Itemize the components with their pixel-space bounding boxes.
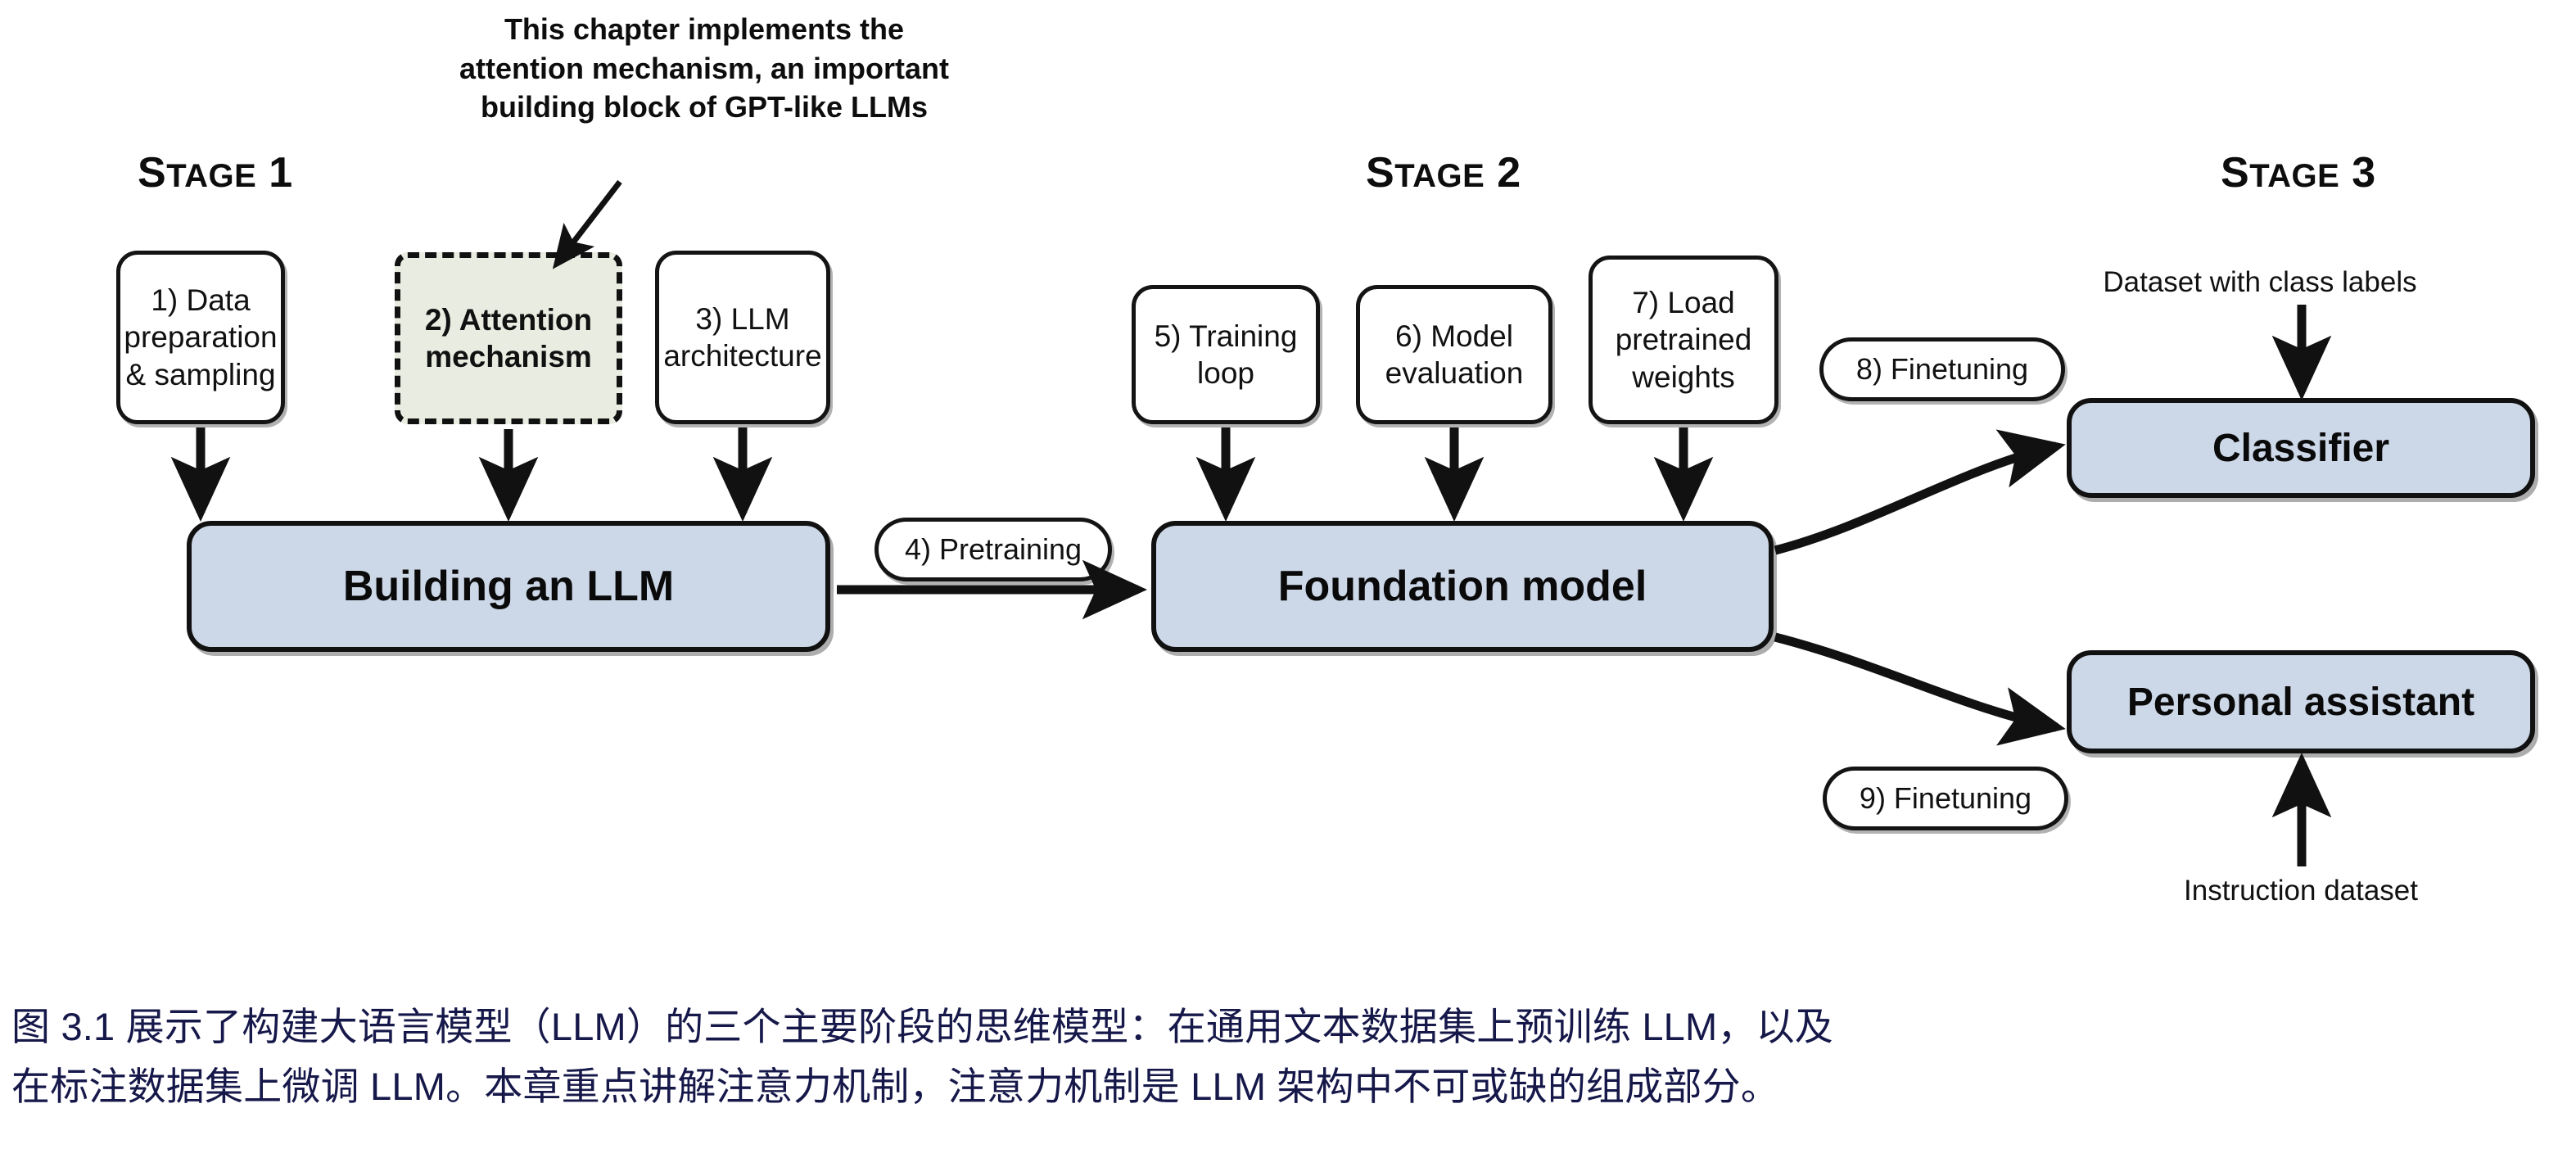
stage-2-number: 2	[1485, 149, 1521, 197]
stage-2-prefix-big: S	[1366, 149, 1394, 197]
stage-2-prefix-small: TAGE	[1394, 158, 1485, 194]
stage-3-header: STAGE 3	[2221, 152, 2376, 194]
outcome-box-building-an-llm[interactable]: Building an LLM	[187, 521, 830, 652]
step-box-llm-architecture[interactable]: 3) LLM architecture	[655, 251, 830, 424]
step-box-training-loop[interactable]: 5) Training loop	[1132, 285, 1320, 424]
outcome-box-personal-assistant[interactable]: Personal assistant	[2067, 650, 2535, 753]
figure-caption: 图 3.1 展示了构建大语言模型（LLM）的三个主要阶段的思维模型：在通用文本数…	[11, 997, 2566, 1117]
outcome-box-classifier[interactable]: Classifier	[2067, 398, 2535, 498]
step-box-attention-mechanism[interactable]: 2) Attention mechanism	[395, 252, 622, 424]
pill-finetuning-classifier[interactable]: 8) Finetuning	[1819, 337, 2065, 401]
label-instruction-dataset: Instruction dataset	[2072, 875, 2530, 907]
outcome-box-foundation-model[interactable]: Foundation model	[1151, 521, 1774, 652]
step-box-model-evaluation[interactable]: 6) Model evaluation	[1356, 285, 1552, 424]
callout-note: This chapter implements the attention me…	[442, 10, 966, 127]
pill-pretraining[interactable]: 4) Pretraining	[874, 518, 1112, 581]
callout-arrow	[557, 182, 620, 264]
stage-3-prefix-small: TAGE	[2249, 158, 2339, 194]
step-box-data-preparation[interactable]: 1) Data preparation & sampling	[116, 251, 285, 424]
step-box-load-pretrained-weights[interactable]: 7) Load pretrained weights	[1589, 256, 1778, 424]
caption-line-2: 在标注数据集上微调 LLM。本章重点讲解注意力机制，注意力机制是 LLM 架构中…	[11, 1057, 2566, 1117]
stage-1-header: STAGE 1	[138, 152, 293, 194]
label-dataset-with-class-labels: Dataset with class labels	[2031, 266, 2489, 299]
arrow-foundation-to-personal-assistant	[1775, 637, 2057, 727]
stage-3-number: 3	[2339, 149, 2375, 197]
stage-1-prefix-big: S	[138, 149, 166, 197]
stage-2-header: STAGE 2	[1366, 152, 1521, 194]
stage-1-number: 1	[256, 149, 292, 197]
caption-line-1: 图 3.1 展示了构建大语言模型（LLM）的三个主要阶段的思维模型：在通用文本数…	[11, 997, 2566, 1057]
stage-3-prefix-big: S	[2221, 149, 2249, 197]
arrow-foundation-to-classifier	[1775, 446, 2057, 550]
stage-1-prefix-small: TAGE	[166, 158, 256, 194]
pill-finetuning-personal-assistant[interactable]: 9) Finetuning	[1823, 767, 2068, 830]
figure-canvas: This chapter implements the attention me…	[0, 0, 2576, 1158]
